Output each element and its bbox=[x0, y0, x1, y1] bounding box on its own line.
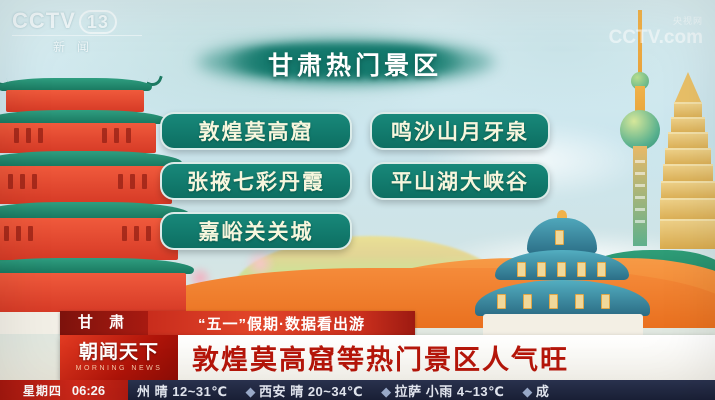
bottom-ticker: 星期四 06:26 州 晴 12~31℃ ◆西安 晴 20~34℃ ◆拉萨 小雨… bbox=[0, 380, 715, 400]
date-time-block: 星期四 06:26 bbox=[0, 380, 128, 400]
watermark-label-cn: 央视网 bbox=[609, 14, 703, 27]
kicker-text: “五一”假期·数据看出游 bbox=[148, 313, 415, 334]
scenic-spot-pill[interactable]: 平山湖大峡谷 bbox=[370, 162, 550, 200]
scenic-spot-label: 鸣沙山月牙泉 bbox=[391, 116, 529, 146]
weather-item: ◆西安 晴 20~34℃ bbox=[246, 381, 364, 400]
scenic-spot-label: 敦煌莫高窟 bbox=[199, 116, 314, 146]
weather-city: 成 bbox=[536, 384, 550, 399]
weekday-label: 星期四 bbox=[23, 382, 62, 399]
cctv-wordmark: CCTV bbox=[12, 8, 76, 33]
clock-label: 06:26 bbox=[72, 383, 105, 398]
cctv-com-watermark: 央视网 CCTV.com bbox=[609, 14, 703, 49]
weather-item: ◆拉萨 小雨 4~13℃ bbox=[381, 381, 504, 400]
temple-of-heaven-illustration bbox=[475, 218, 650, 338]
graphic-title: 甘肃热门景区 bbox=[268, 46, 442, 82]
weather-temp: 12~31℃ bbox=[172, 384, 227, 399]
weather-cond: 小雨 bbox=[426, 384, 453, 399]
watermark-label-en: CCTV.com bbox=[609, 27, 703, 49]
channel-number: 13 bbox=[79, 10, 117, 34]
weather-item: ◆成 bbox=[522, 381, 549, 400]
weather-city: 西安 bbox=[259, 384, 286, 399]
pagoda-illustration bbox=[660, 72, 715, 247]
cctv13-logo: CCTV13 新闻 bbox=[12, 8, 142, 52]
weather-cond: 晴 bbox=[155, 384, 169, 399]
program-name-en: MORNING NEWS bbox=[76, 365, 163, 372]
channel-name-cn: 新闻 bbox=[12, 38, 142, 55]
program-name-cn: 朝闻天下 bbox=[79, 343, 159, 362]
scenic-spot-label: 嘉峪关关城 bbox=[199, 216, 314, 246]
weather-feed: 州 晴 12~31℃ ◆西安 晴 20~34℃ ◆拉萨 小雨 4~13℃ ◆成 bbox=[128, 381, 549, 400]
scenic-spot-label: 张掖七彩丹霞 bbox=[187, 166, 325, 196]
scenic-spot-label: 平山湖大峡谷 bbox=[391, 166, 529, 196]
program-logo: 朝闻天下 MORNING NEWS bbox=[60, 335, 178, 380]
location-label: 甘 肃 bbox=[60, 311, 148, 335]
weather-city: 拉萨 bbox=[395, 384, 422, 399]
kicker-bar: 甘 肃 “五一”假期·数据看出游 bbox=[60, 311, 415, 335]
scenic-spot-pill[interactable]: 张掖七彩丹霞 bbox=[160, 162, 352, 200]
broadcast-frame: 甘肃热门景区 敦煌莫高窟 鸣沙山月牙泉 张掖七彩丹霞 平山湖大峡谷 嘉峪关关城 … bbox=[0, 0, 715, 400]
logo-rule bbox=[12, 35, 142, 36]
weather-item: 州 晴 12~31℃ bbox=[134, 381, 228, 400]
headline-text: 敦煌莫高窟等热门景区人气旺 bbox=[178, 338, 715, 377]
scenic-spot-pill[interactable]: 鸣沙山月牙泉 bbox=[370, 112, 550, 150]
bullet-icon: ◆ bbox=[246, 384, 257, 399]
bullet-icon: ◆ bbox=[381, 384, 392, 399]
headline-bar: 朝闻天下 MORNING NEWS 敦煌莫高窟等热门景区人气旺 bbox=[60, 335, 715, 380]
scenic-spot-pill[interactable]: 敦煌莫高窟 bbox=[160, 112, 352, 150]
scenic-spot-pill[interactable]: 嘉峪关关城 bbox=[160, 212, 352, 250]
weather-temp: 20~34℃ bbox=[308, 384, 363, 399]
weather-cond: 晴 bbox=[290, 384, 304, 399]
weather-temp: 4~13℃ bbox=[457, 384, 505, 399]
weather-city: 州 bbox=[137, 384, 151, 399]
bullet-icon: ◆ bbox=[522, 384, 533, 399]
